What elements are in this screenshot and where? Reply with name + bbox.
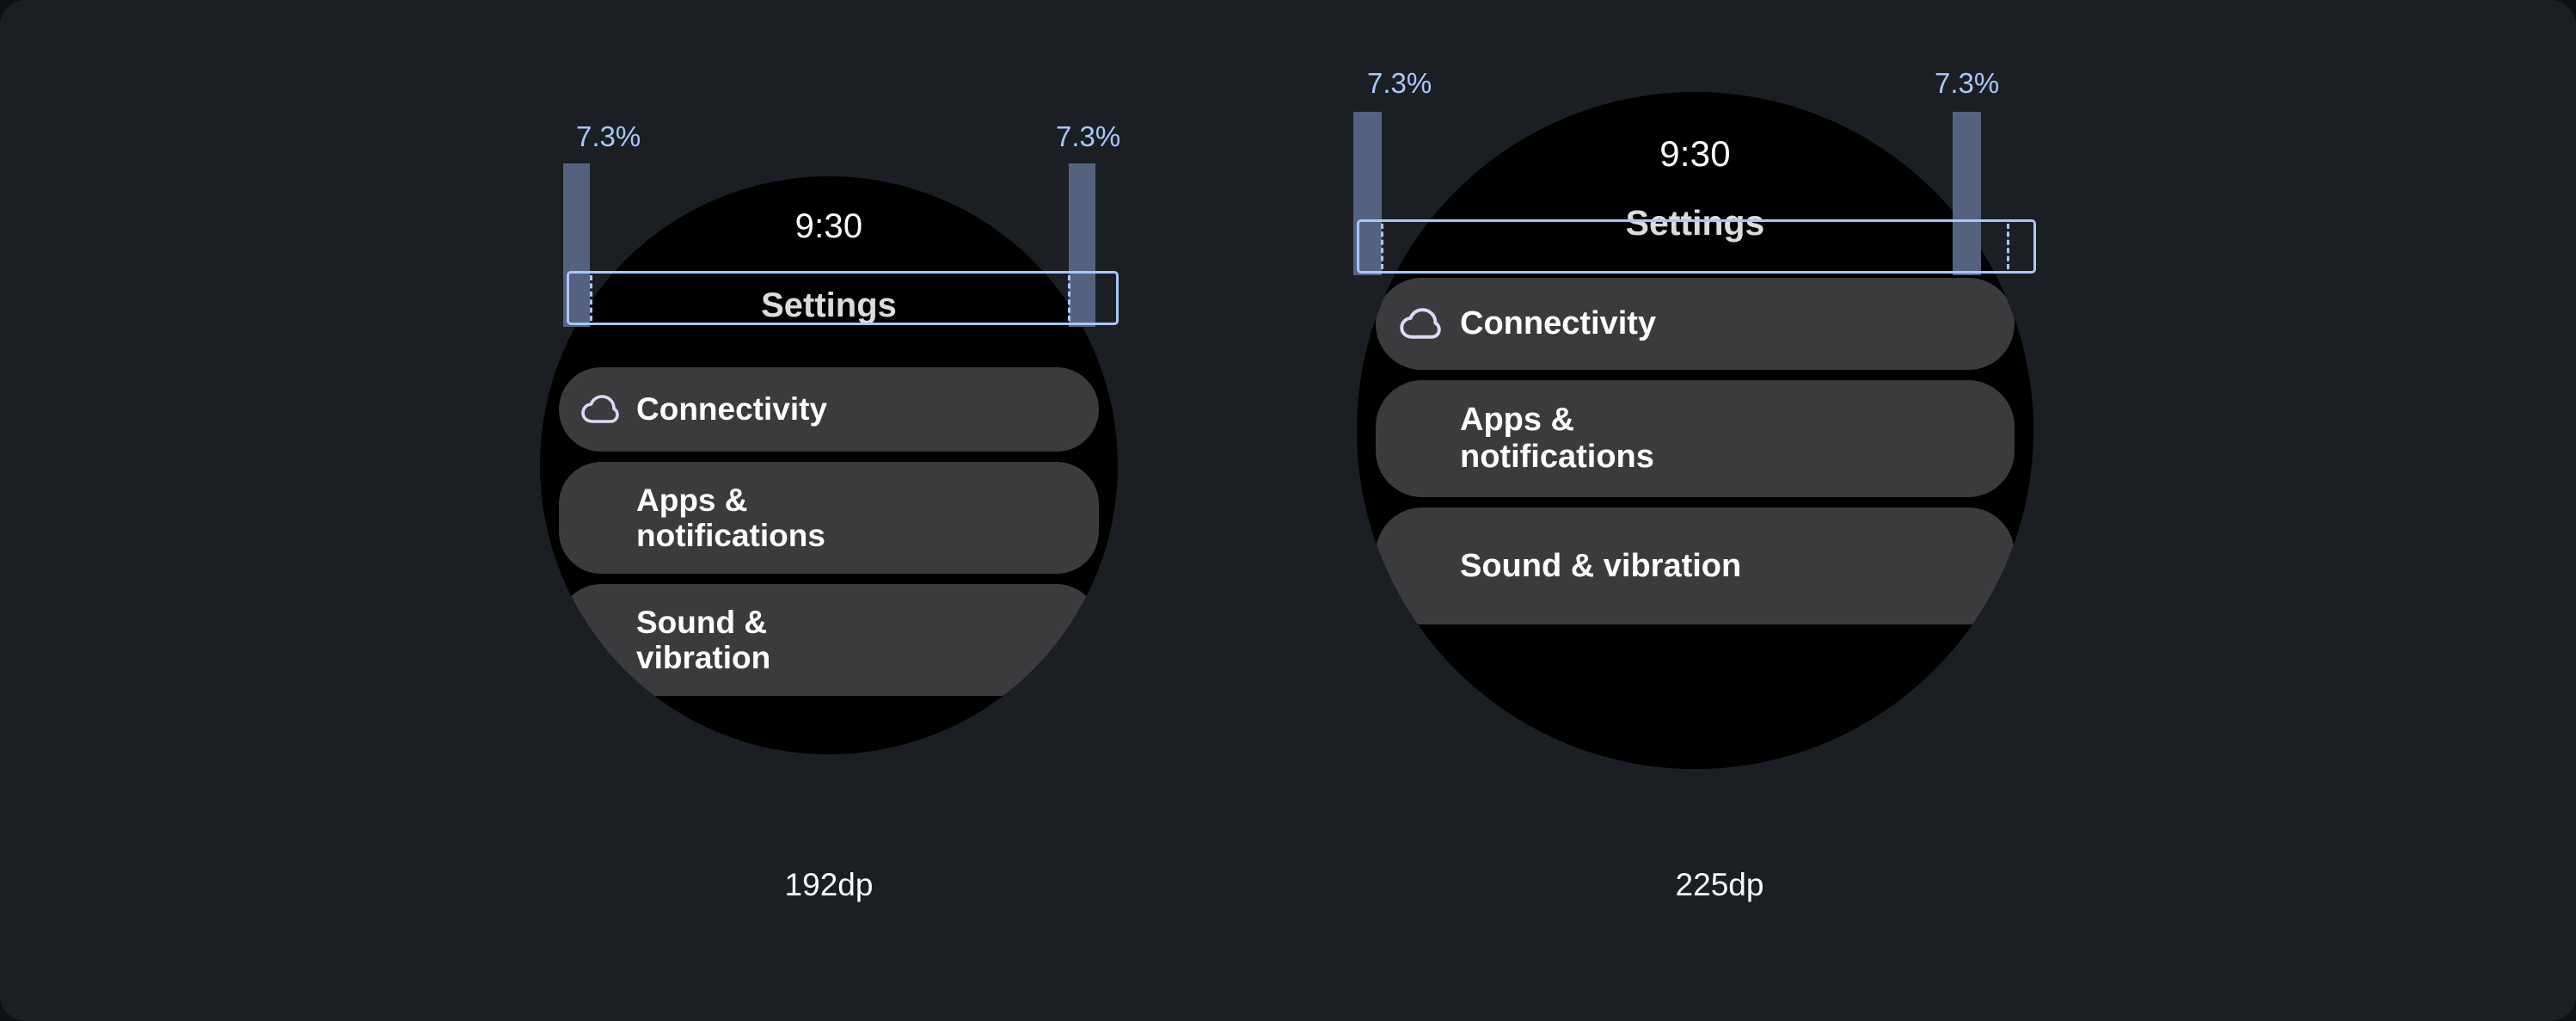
percent-label-right-192: 7.3% [1056,120,1120,153]
list-item-label: Connectivity [1460,305,1994,342]
watch-screen-225: 9:30 Settings Connectivity [1357,92,2033,769]
measure-bar-right-192 [1069,163,1095,327]
measure-bar-left-225 [1353,112,1382,275]
measure-bar-left-192 [563,163,590,327]
status-time-192: 9:30 [540,207,1118,246]
measure-dash-left-225 [1381,224,1383,269]
measure-dash-left-192 [590,275,592,321]
list-item-apps-notifications-225[interactable]: Apps & notifications [1376,380,2015,497]
list-item-label: Sound & vibration [636,605,1080,676]
size-caption-192: 192dp [481,867,1176,903]
list-item-connectivity-192[interactable]: Connectivity [559,367,1099,452]
measure-bar-right-225 [1953,112,1981,275]
specimen-canvas: 7.3% 7.3% 9:30 Settings Connectivity [0,0,2576,1021]
list-item-connectivity-225[interactable]: Connectivity [1376,278,2015,370]
sound-icon [578,618,623,662]
list-item-sound-vibration-192[interactable]: Sound & vibration [559,584,1099,696]
list-item-label: Sound & vibration [1460,548,1994,585]
watch-specimen-192dp: 7.3% 7.3% 9:30 Settings Connectivity [481,0,1176,1021]
measure-dash-right-225 [2007,224,2009,269]
cloud-icon [1396,300,1444,348]
list-item-label: Connectivity [636,391,1080,427]
apps-grid-icon [578,495,623,540]
watch-face-225: 9:30 Settings Connectivity [1357,92,2033,769]
list-item-apps-notifications-192[interactable]: Apps & notifications [559,462,1099,574]
percent-label-left-192: 7.3% [576,120,641,153]
watch-screen-192: 9:30 Settings Connectivity [540,176,1118,754]
apps-grid-icon [1396,415,1444,463]
watch-specimen-225dp: 7.3% 7.3% 9:30 Settings Connectivity [1324,0,2115,1021]
list-item-label: Apps & notifications [1460,402,1994,475]
status-time-225: 9:30 [1357,133,2033,175]
screen-title-225: Settings [1357,203,2033,243]
list-item-label: Apps & notifications [636,483,1080,554]
cloud-icon [578,387,623,432]
settings-list-225: Connectivity Apps & notifications Sound … [1357,278,2033,624]
screen-title-192: Settings [540,286,1118,325]
sound-icon [1396,542,1444,590]
percent-label-left-225: 7.3% [1367,67,1432,100]
list-item-sound-vibration-225[interactable]: Sound & vibration [1376,507,2015,624]
size-caption-225: 225dp [1324,867,2115,903]
watch-face-192: 9:30 Settings Connectivity [540,176,1118,754]
percent-label-right-225: 7.3% [1935,67,1999,100]
settings-list-192: Connectivity Apps & notifications Sound … [540,367,1118,696]
measure-dash-right-192 [1068,275,1070,321]
